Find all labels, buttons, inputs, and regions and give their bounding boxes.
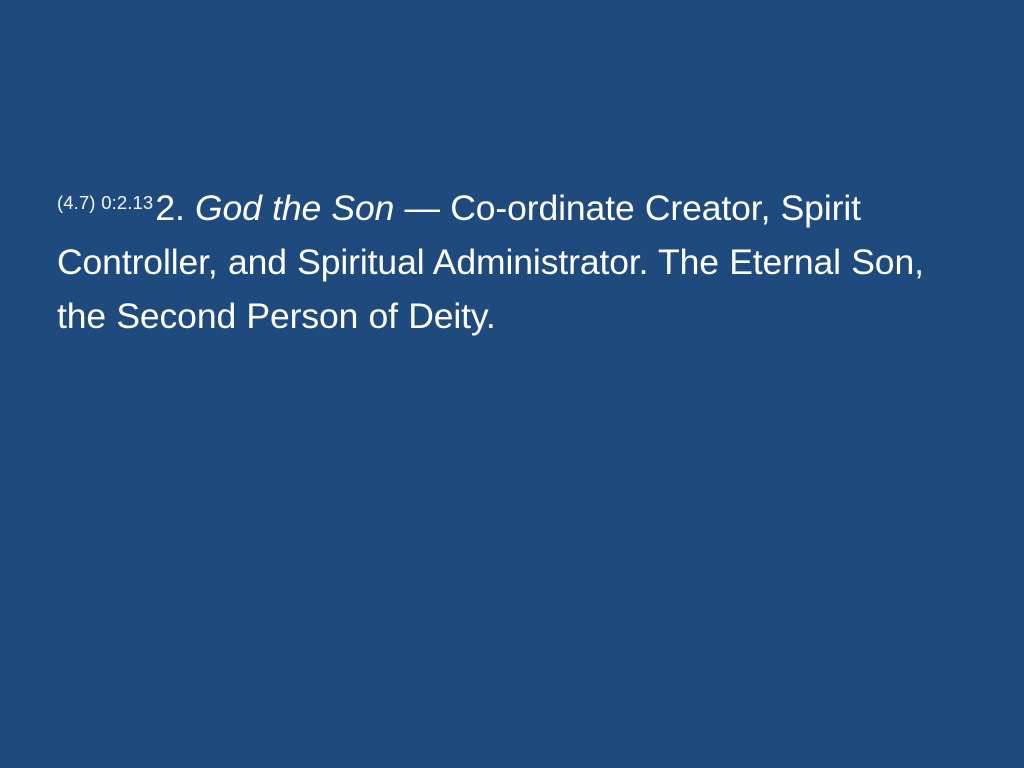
section-title: God the Son <box>195 188 394 228</box>
scripture-reference: (4.7) 0:2.13 <box>57 192 155 213</box>
space-before-dash <box>394 188 404 228</box>
em-dash-separator: — <box>405 188 440 228</box>
item-number: 2. <box>155 188 184 228</box>
paragraph: (4.7) 0:2.132. God the Son — Co-ordinate… <box>57 181 963 343</box>
space-after-dash <box>440 188 450 228</box>
slide-canvas: (4.7) 0:2.132. God the Son — Co-ordinate… <box>0 0 1024 768</box>
text-content-block: (4.7) 0:2.132. God the Son — Co-ordinate… <box>57 181 963 343</box>
space-after-number <box>185 188 195 228</box>
